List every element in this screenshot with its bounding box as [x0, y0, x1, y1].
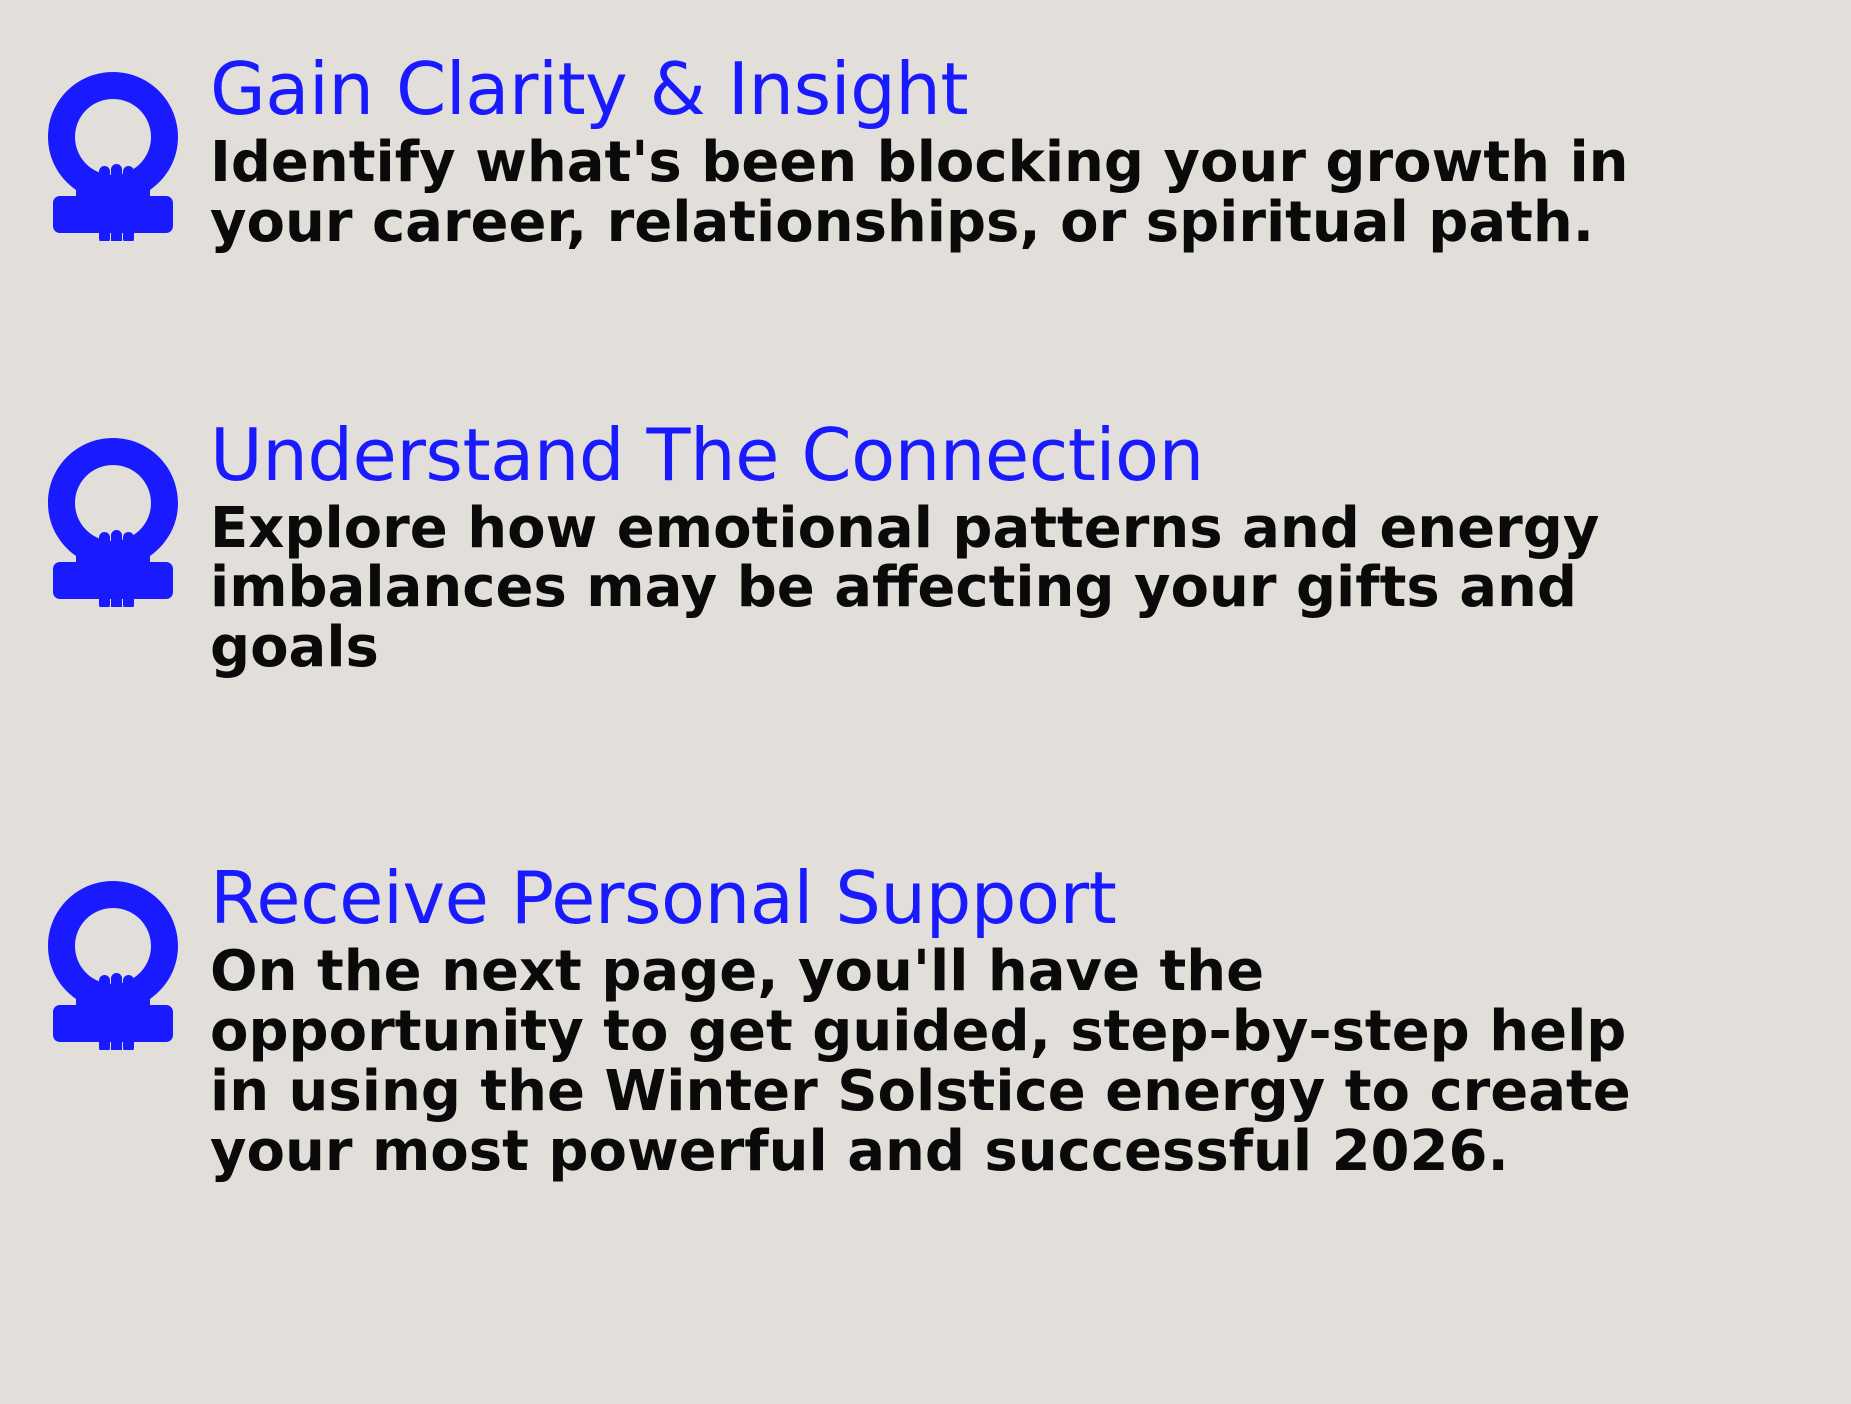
benefit-item: Gain Clarity & Insight Identify what's b… — [0, 52, 1851, 253]
handshake-in-circle-icon — [38, 875, 188, 1050]
benefit-item: Receive Personal Support On the next pag… — [0, 861, 1851, 1182]
benefit-text-block: Receive Personal Support On the next pag… — [188, 861, 1850, 1182]
benefit-item: Understand The Connection Explore how em… — [0, 418, 1851, 679]
handshake-in-circle-icon — [38, 432, 188, 607]
benefit-description: On the next page, you'll have the opport… — [210, 942, 1650, 1182]
benefits-page: Gain Clarity & Insight Identify what's b… — [0, 0, 1851, 1404]
benefit-description: Explore how emotional patterns and energ… — [210, 499, 1610, 679]
handshake-in-circle-icon — [38, 66, 188, 241]
benefit-title: Understand The Connection — [210, 418, 1830, 493]
benefit-text-block: Gain Clarity & Insight Identify what's b… — [188, 52, 1850, 253]
benefit-description: Identify what's been blocking your growt… — [210, 133, 1640, 253]
benefit-text-block: Understand The Connection Explore how em… — [188, 418, 1850, 679]
benefit-title: Receive Personal Support — [210, 861, 1830, 936]
benefits-list: Gain Clarity & Insight Identify what's b… — [0, 52, 1851, 1182]
benefit-title: Gain Clarity & Insight — [210, 52, 1830, 127]
